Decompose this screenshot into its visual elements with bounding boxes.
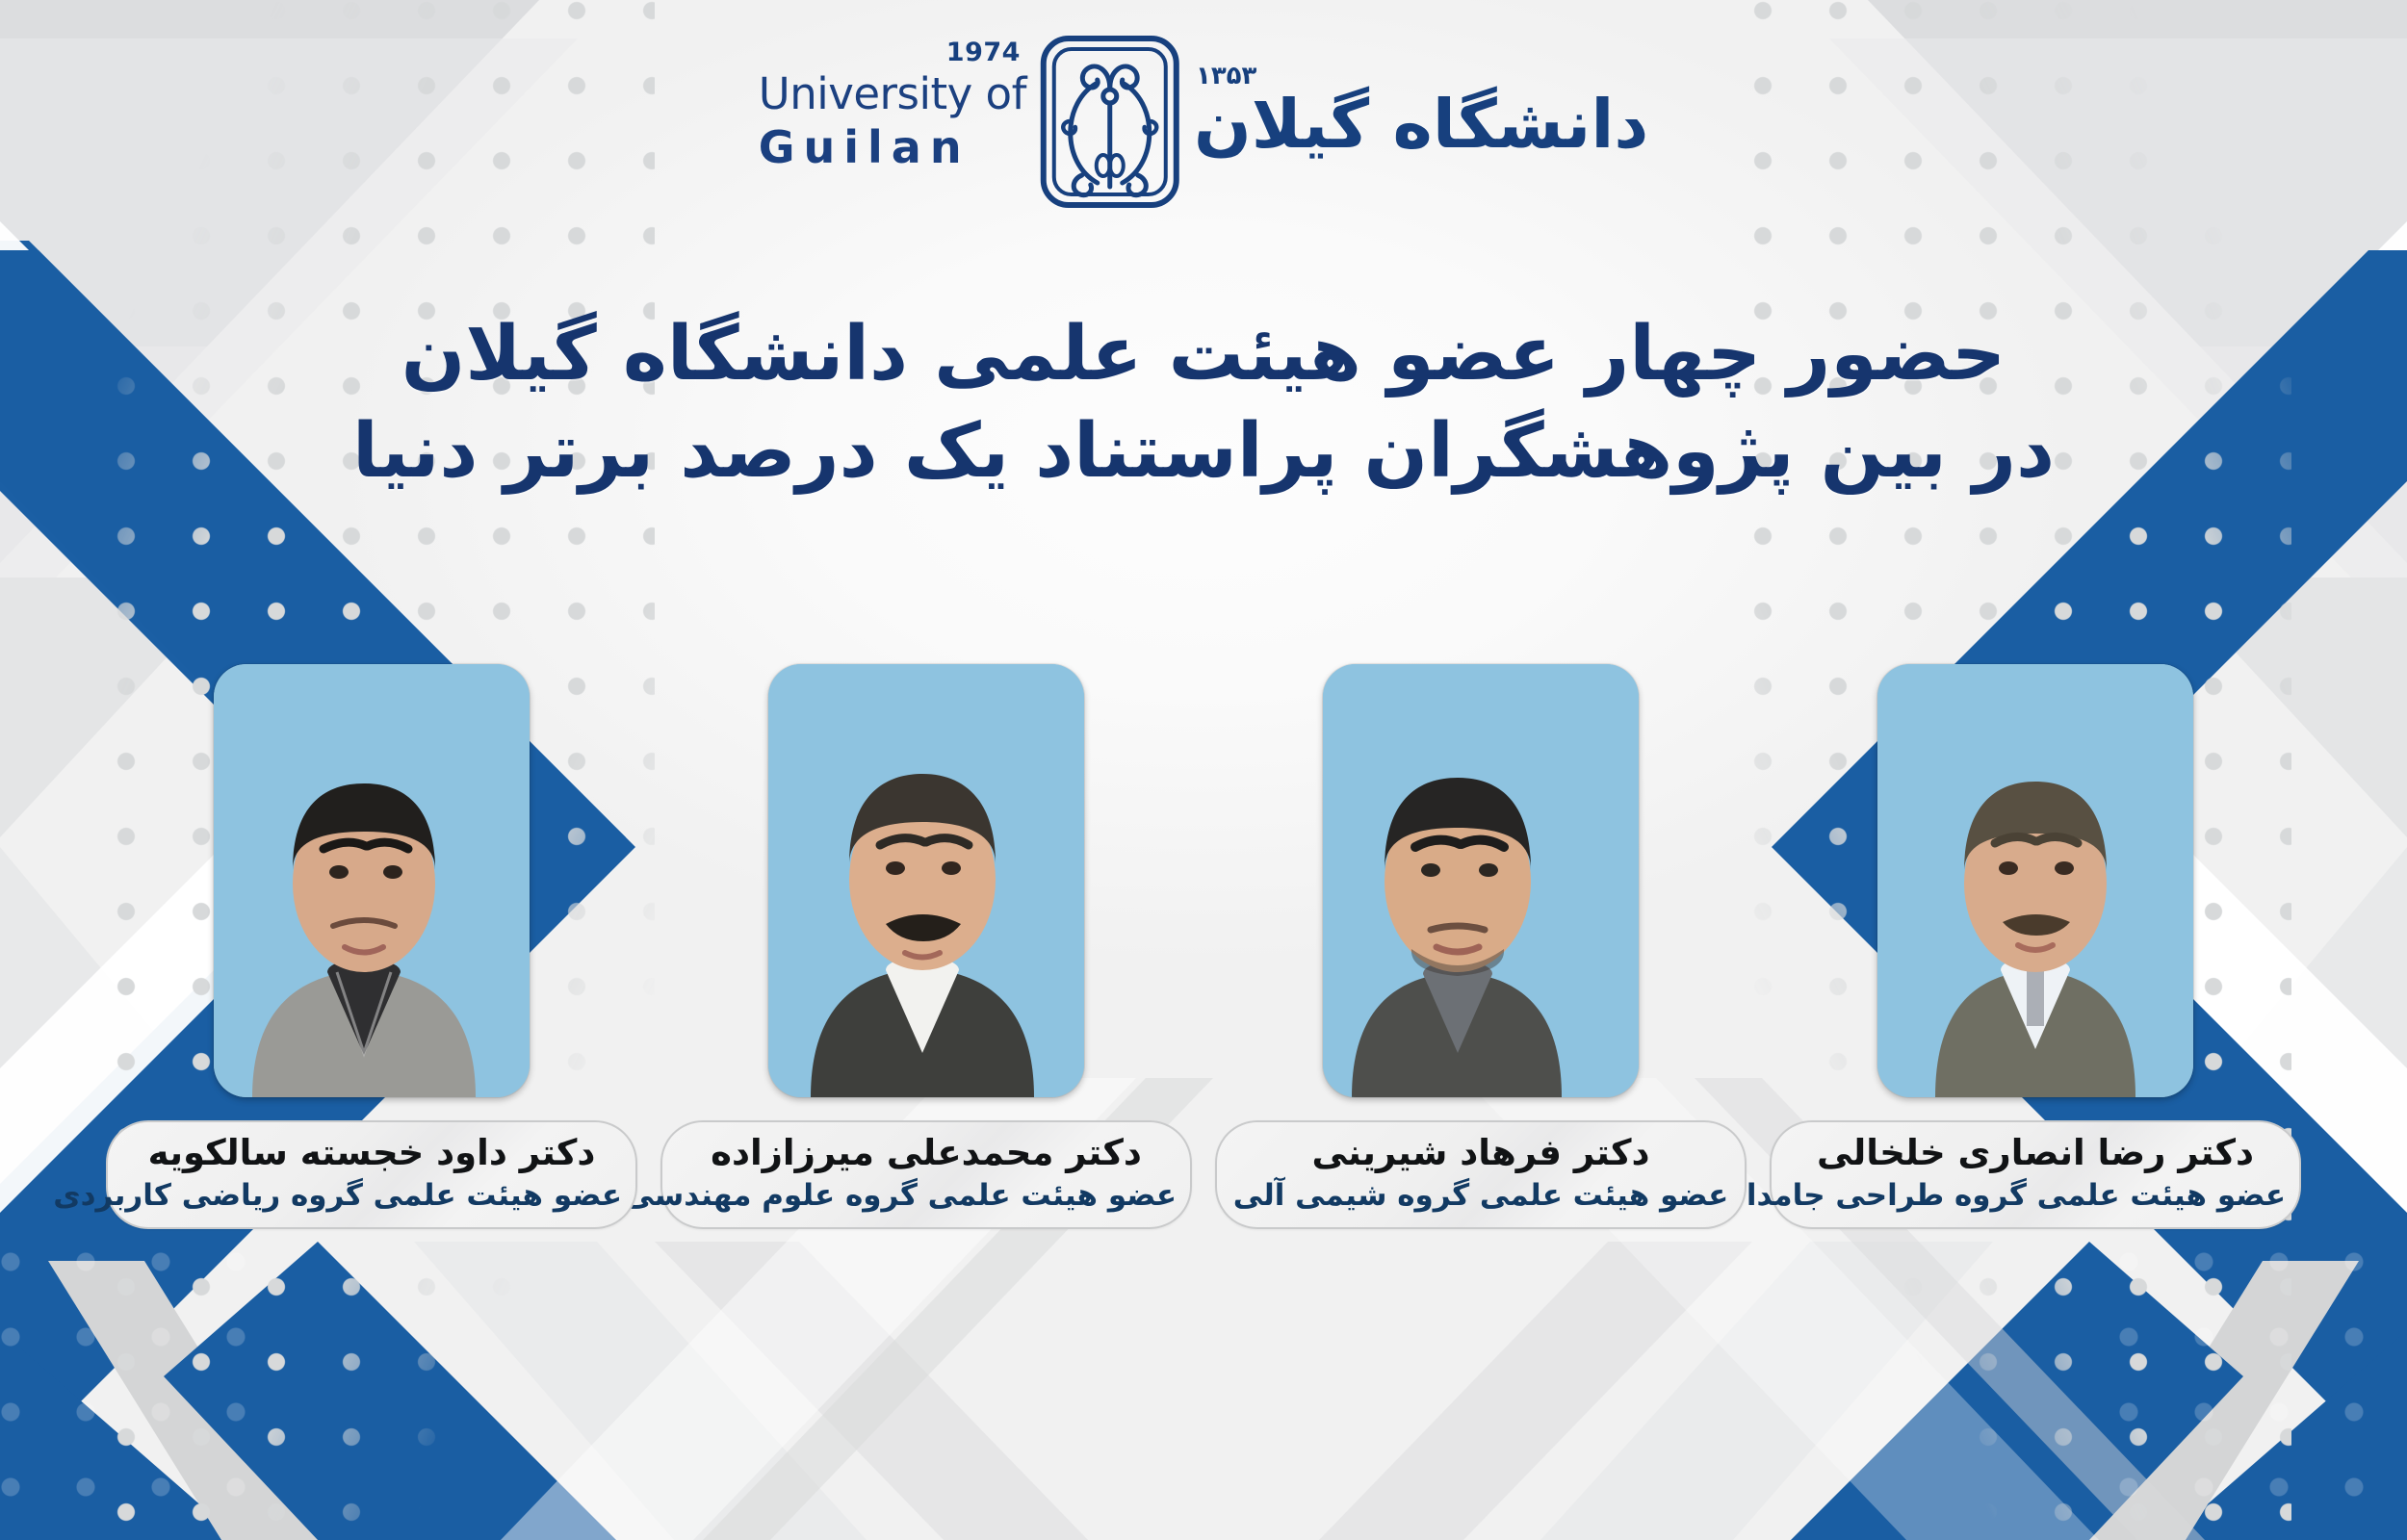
portrait-photo xyxy=(768,664,1084,1097)
researcher-namecard: دکتر محمدعلی میرزازاده عضو هیئت علمی گرو… xyxy=(660,1120,1192,1229)
researcher-role: عضو هیئت علمی گروه طراحی جامدات xyxy=(1785,1178,2286,1214)
researcher-name: دکتر داود خجسته سالکویه xyxy=(121,1132,622,1174)
headline-line-2: در بین پژوهشگران پراستناد یک درصد برتر د… xyxy=(0,403,2407,500)
researcher-card: دکتر فرهاد شیرینی عضو هیئت علمی گروه شیم… xyxy=(1227,664,1735,1229)
university-logo: 1974 University of Guilan xyxy=(759,33,1648,215)
logo-persian-block: ۱۳۵۳ دانشگاه گیلان xyxy=(1194,90,1648,158)
researcher-card: دکتر محمدعلی میرزازاده عضو هیئت علمی گرو… xyxy=(672,664,1180,1229)
logo-university-word: University of xyxy=(759,72,1026,115)
guilan-university-emblem-icon xyxy=(1038,33,1182,215)
researcher-name: دکتر رضا انصاری خلخالی xyxy=(1785,1132,2286,1174)
researcher-card: دکتر رضا انصاری خلخالی عضو هیئت علمی گرو… xyxy=(1781,664,2290,1229)
ribbon-bottom-left-pale xyxy=(414,1242,867,1540)
logo-persian-name: دانشگاه گیلان xyxy=(1194,90,1648,158)
ribbon-bottom-left-blue-1 xyxy=(0,1280,241,1540)
portrait-photo xyxy=(1323,664,1639,1097)
researcher-namecard: دکتر داود خجسته سالکویه عضو هیئت علمی گر… xyxy=(106,1120,637,1229)
plate-top-right-dark xyxy=(1868,0,2407,346)
poster-canvas: 1974 University of Guilan xyxy=(0,0,2407,1540)
ribbon-bottom-right-soft xyxy=(1319,1242,1752,1540)
researcher-role: عضو هیئت علمی گروه ریاضی کاربردی xyxy=(121,1178,622,1214)
researcher-role: عضو هیئت علمی گروه علوم مهندسی xyxy=(676,1178,1177,1214)
ribbon-bottom-left-grey xyxy=(48,1261,318,1540)
researcher-role: عضو هیئت علمی گروه شیمی آلی xyxy=(1230,1178,1731,1214)
logo-english-block: 1974 University of Guilan xyxy=(759,72,1026,175)
researcher-card: دکتر داود خجسته سالکویه عضو هیئت علمی گر… xyxy=(117,664,626,1229)
ribbon-bottom-left-blue-2 xyxy=(164,1242,616,1540)
ribbon-bottom-right-blue-1 xyxy=(2166,1280,2407,1540)
ribbon-bottom-right-blue-2 xyxy=(1791,1242,2243,1540)
dot-field-blue-bottom-right xyxy=(2118,1251,2407,1540)
logo-year-gregorian: 1974 xyxy=(946,39,1021,65)
researcher-name: دکتر محمدعلی میرزازاده xyxy=(676,1132,1177,1174)
logo-year-hijri: ۱۳۵۳ xyxy=(1196,62,1256,90)
researcher-name: دکتر فرهاد شیرینی xyxy=(1230,1132,1731,1174)
researchers-row: دکتر رضا انصاری خلخالی عضو هیئت علمی گرو… xyxy=(0,664,2407,1229)
logo-guilan-word: Guilan xyxy=(759,125,971,169)
dot-field-blue-bottom-left xyxy=(0,1251,289,1540)
ribbon-bottom-right-grey xyxy=(2089,1261,2359,1540)
ribbon-bottom-right-pale xyxy=(1540,1242,1993,1540)
plate-top-left-dark xyxy=(0,0,539,346)
ribbon-bottom-left-soft xyxy=(655,1242,1088,1540)
researcher-namecard: دکتر فرهاد شیرینی عضو هیئت علمی گروه شیم… xyxy=(1215,1120,1747,1229)
headline: حضور چهار عضو هیئت علمی دانشگاه گیلان در… xyxy=(0,306,2407,501)
headline-line-1: حضور چهار عضو هیئت علمی دانشگاه گیلان xyxy=(0,306,2407,403)
portrait-photo xyxy=(214,664,530,1097)
portrait-photo xyxy=(1877,664,2193,1097)
researcher-namecard: دکتر رضا انصاری خلخالی عضو هیئت علمی گرو… xyxy=(1770,1120,2301,1229)
